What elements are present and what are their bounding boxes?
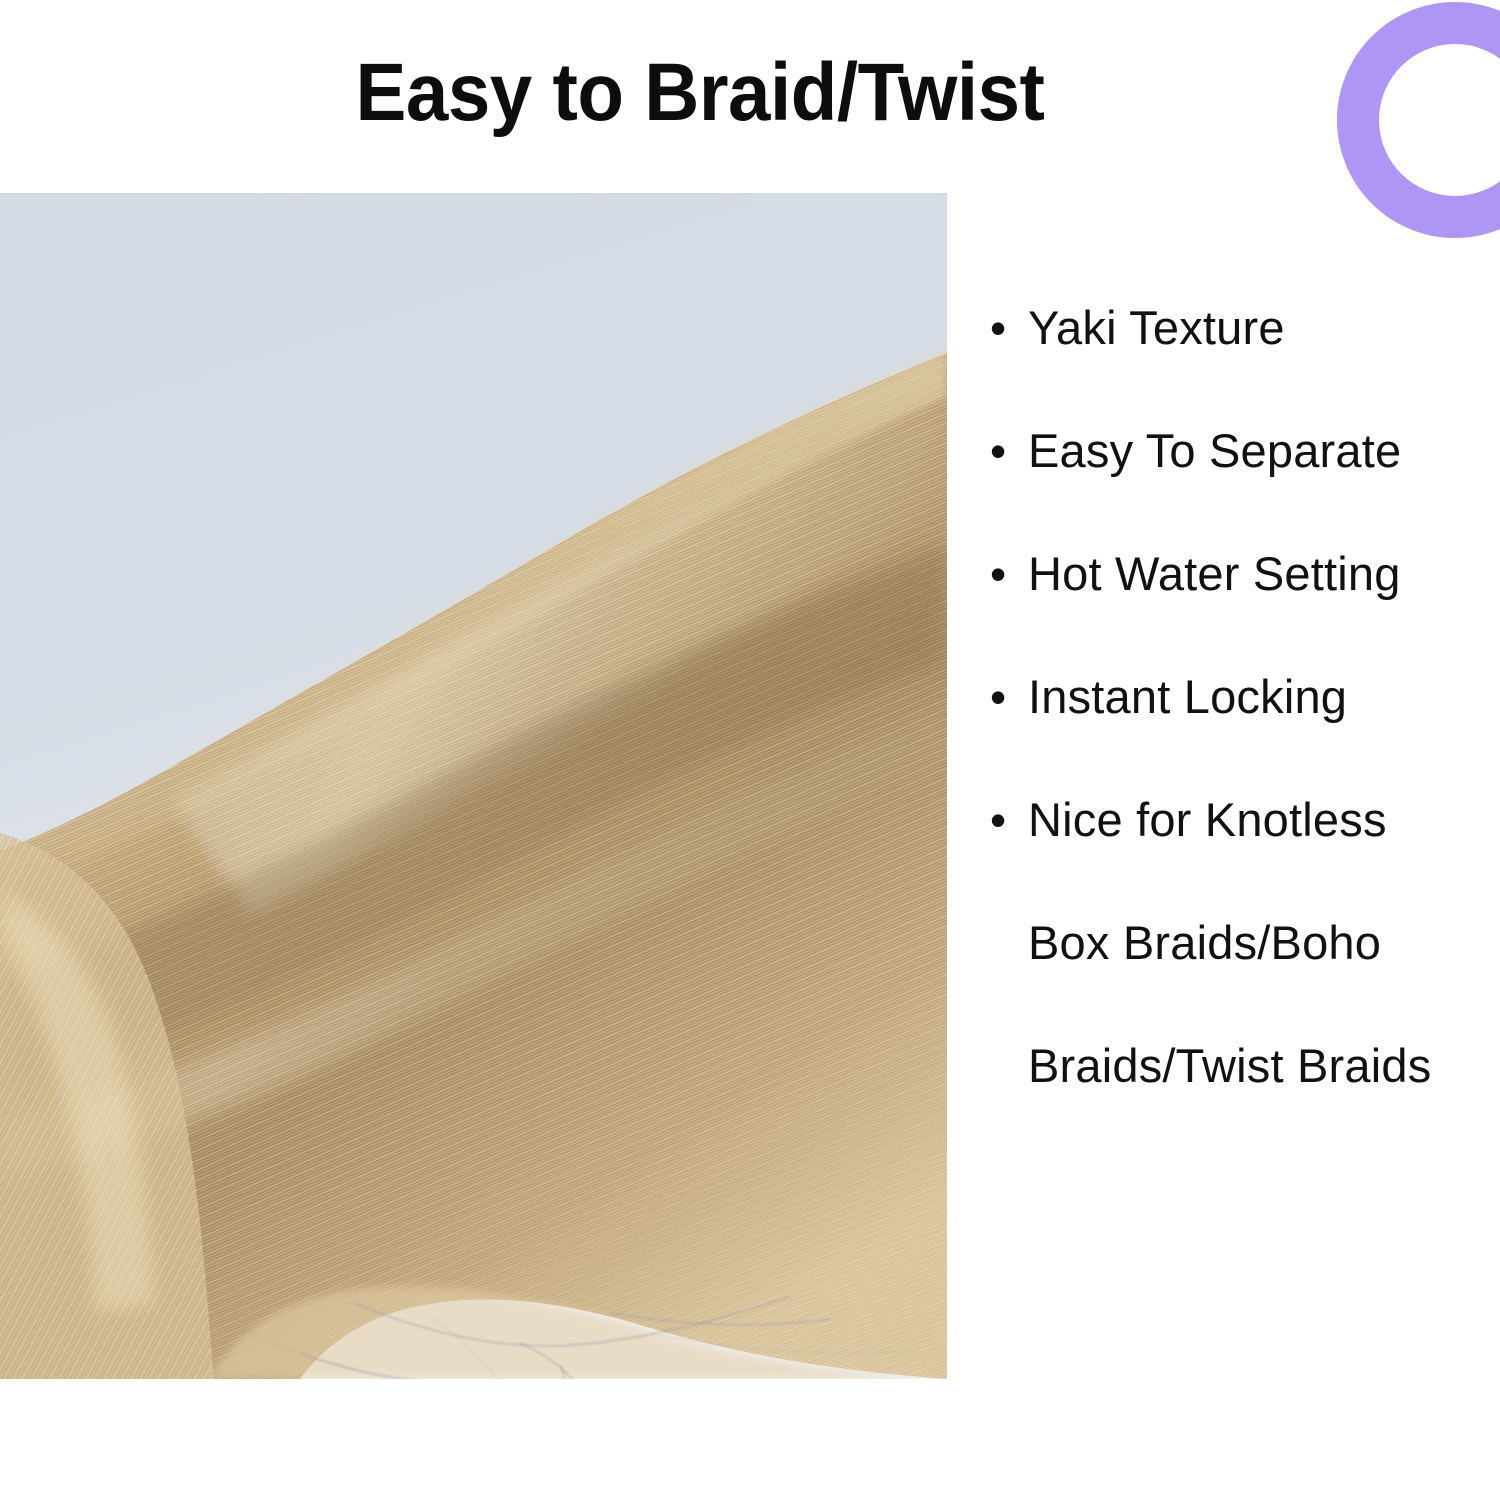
- purple-ring-shape: [1358, 23, 1500, 217]
- hair-extension-closeup-photo: [0, 193, 947, 1379]
- bullet-icon: •: [990, 669, 1028, 725]
- feature-continuation-label: Box Braids/Boho: [1028, 915, 1490, 971]
- page-title: Easy to Braid/Twist: [49, 52, 1351, 134]
- feature-item: • Hot Water Setting: [990, 546, 1490, 602]
- feature-item: • Yaki Texture: [990, 300, 1490, 356]
- bullet-icon: •: [990, 423, 1028, 479]
- bullet-icon: •: [990, 300, 1028, 356]
- feature-label: Yaki Texture: [1028, 300, 1490, 356]
- feature-continuation-line: • Box Braids/Boho: [990, 915, 1490, 971]
- feature-label: Nice for Knotless: [1028, 792, 1490, 848]
- feature-item: • Instant Locking: [990, 669, 1490, 725]
- feature-continuation-line: • Braids/Twist Braids: [990, 1038, 1490, 1094]
- feature-item: • Easy To Separate: [990, 423, 1490, 479]
- feature-label: Instant Locking: [1028, 669, 1490, 725]
- bullet-icon: •: [990, 792, 1028, 848]
- feature-item: • Nice for Knotless: [990, 792, 1490, 848]
- feature-label: Hot Water Setting: [1028, 546, 1490, 602]
- purple-ring-accent: [1320, 0, 1500, 270]
- feature-list: • Yaki Texture • Easy To Separate • Hot …: [990, 300, 1490, 1161]
- feature-continuation-label: Braids/Twist Braids: [1028, 1038, 1490, 1094]
- bullet-icon: •: [990, 546, 1028, 602]
- feature-label: Easy To Separate: [1028, 423, 1490, 479]
